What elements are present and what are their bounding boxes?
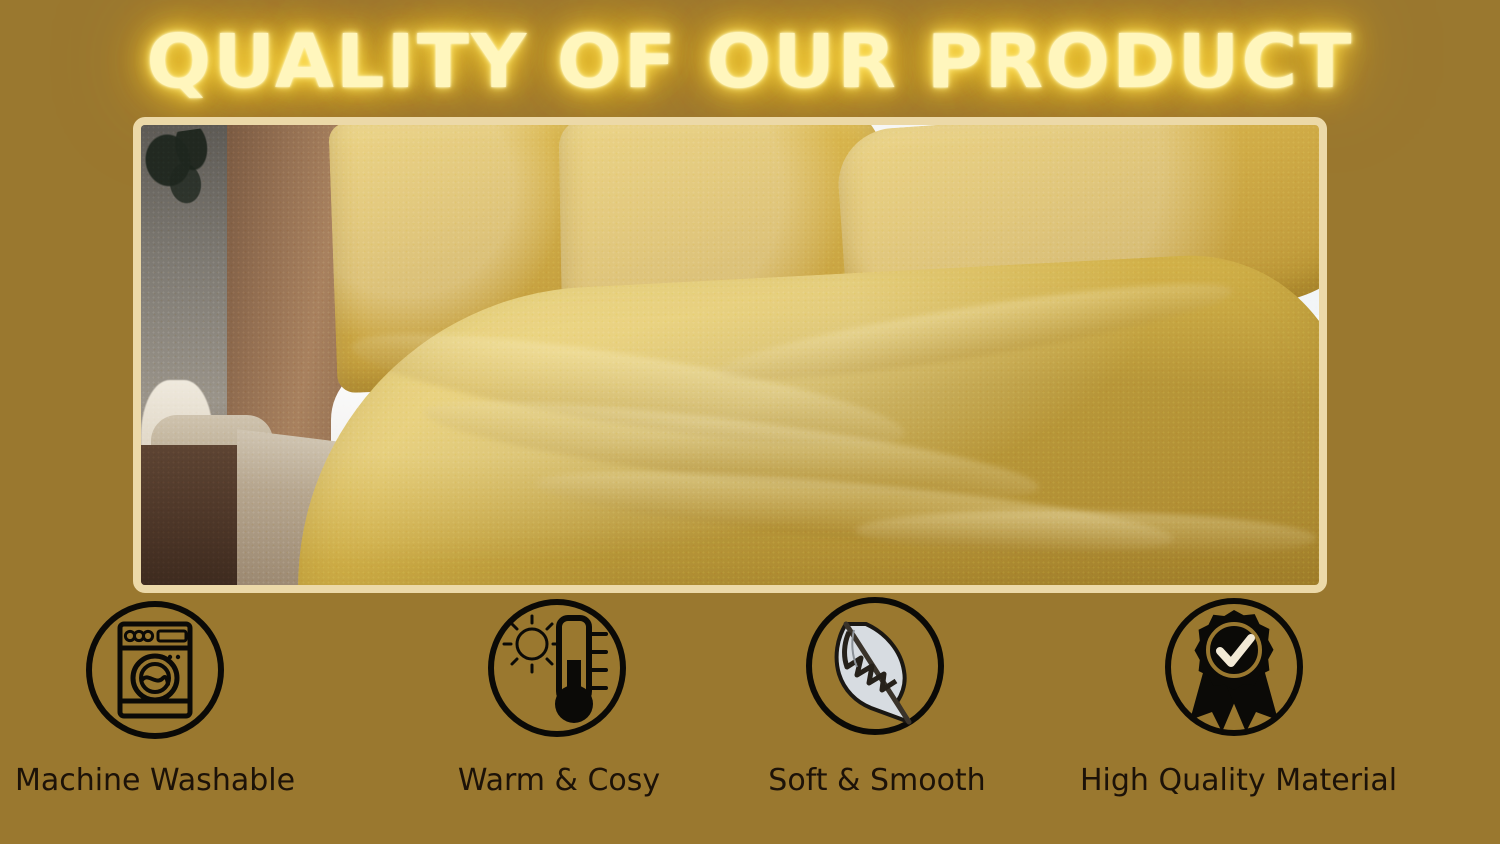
plant-decor bbox=[141, 126, 231, 226]
feather-icon bbox=[722, 596, 1032, 753]
washing-machine-icon bbox=[0, 596, 310, 753]
feature-label: Warm & Cosy bbox=[404, 763, 714, 798]
page-title: QUALITY OF OUR PRODUCT bbox=[146, 25, 1353, 99]
product-photo bbox=[141, 125, 1319, 585]
feature-high-quality-material: High Quality Material bbox=[1080, 596, 1390, 798]
feature-machine-washable: Machine Washable bbox=[0, 596, 310, 798]
thermometer-sun-icon bbox=[404, 596, 714, 753]
award-badge-icon bbox=[1080, 596, 1390, 753]
feature-label: Soft & Smooth bbox=[722, 763, 1032, 798]
feature-soft-smooth: Soft & Smooth bbox=[722, 596, 1032, 798]
feature-row: Machine Washable bbox=[0, 596, 1500, 826]
banner-title-wrap: QUALITY OF OUR PRODUCT bbox=[0, 14, 1500, 110]
feature-label: Machine Washable bbox=[0, 763, 310, 798]
feature-warm-cosy: Warm & Cosy bbox=[404, 596, 714, 798]
product-photo-frame bbox=[133, 117, 1327, 593]
feature-label: High Quality Material bbox=[1080, 763, 1390, 798]
